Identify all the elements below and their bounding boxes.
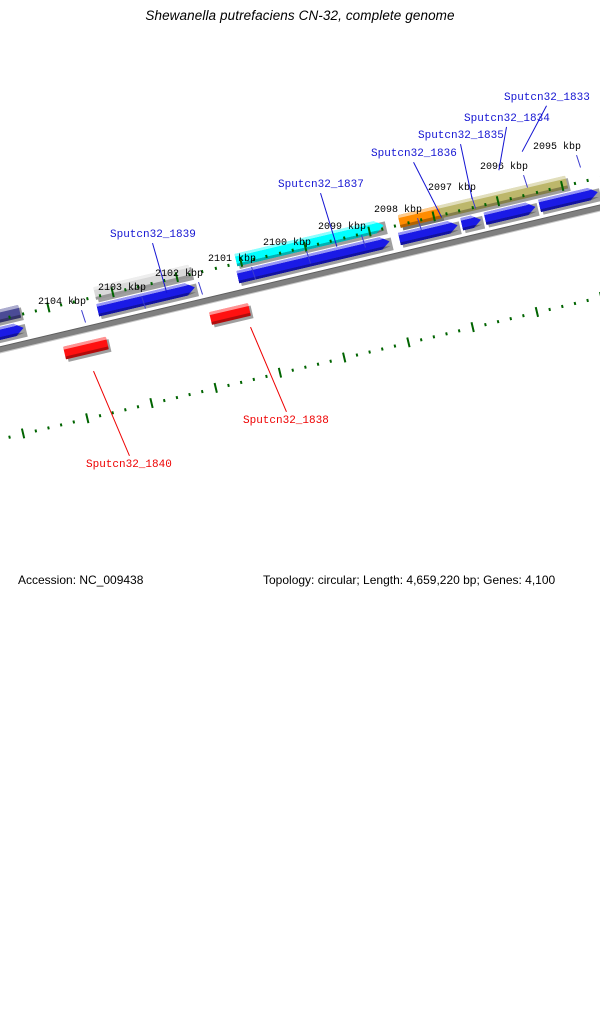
ruler-tick-minor (304, 366, 307, 369)
gene-label[interactable]: Sputcn32_1840 (86, 459, 172, 471)
gene-label[interactable]: Sputcn32_1834 (464, 113, 550, 125)
gene-label[interactable]: Sputcn32_1837 (278, 179, 364, 191)
gene-label[interactable]: Sputcn32_1836 (371, 148, 457, 160)
ruler-tick-major (560, 181, 564, 191)
ruler-tick-minor (201, 390, 204, 393)
ruler-position-label: 2096 kbp (480, 162, 528, 173)
gene-label[interactable]: Sputcn32_1835 (418, 130, 504, 142)
ruler-tick-minor (407, 221, 410, 224)
ruler-tick-minor (548, 188, 551, 191)
ruler-tick-minor (176, 396, 179, 399)
genome-map-viewer: Shewanella putrefaciens CN-32, complete … (0, 0, 600, 600)
ruler-tick-minor (330, 239, 333, 242)
ruler-tick-major (342, 353, 346, 363)
ruler-tick-minor (86, 297, 89, 300)
ruler-tick-minor (471, 206, 474, 209)
ruler-tick-minor (574, 182, 577, 185)
ruler-tick-minor (368, 350, 371, 353)
ruler-tick-major (406, 337, 410, 347)
ruler-tick-minor (420, 218, 423, 221)
ruler-tick-minor (60, 423, 63, 426)
ruler-tick-minor (510, 197, 513, 200)
ruler-tick-minor (355, 233, 358, 236)
ruler-tick-minor (278, 252, 281, 255)
ruler-tick-minor (9, 315, 12, 318)
ruler-tick-minor (150, 282, 153, 285)
ruler-tick-minor (73, 420, 76, 423)
ruler-tick-minor (484, 203, 487, 206)
ruler-tick-minor (458, 209, 461, 212)
ruler-tick-minor (445, 332, 448, 335)
ruler-tick-major (21, 428, 25, 438)
ruler-tick-minor (291, 249, 294, 252)
gene-label[interactable]: Sputcn32_1838 (243, 415, 329, 427)
ruler-tick-minor (99, 414, 102, 417)
accession-text: Accession: NC_009438 (18, 573, 143, 587)
ruler-tick-minor (458, 329, 461, 332)
ruler-tick-minor (497, 320, 500, 323)
ruler-tick-minor (266, 375, 269, 378)
ruler-tick-minor (510, 317, 513, 320)
ruler-tick-minor (548, 308, 551, 311)
ruler-tick-minor (522, 314, 525, 317)
ruler-tick-major (213, 383, 217, 393)
ruler-tick-minor (317, 362, 320, 365)
ruler-tick-major (432, 211, 436, 221)
ruler-tick-minor (433, 335, 436, 338)
ruler-tick-minor (587, 299, 590, 302)
ruler-tick-minor (381, 347, 384, 350)
ruler-tick-minor (240, 381, 243, 384)
ruler-tick-minor (163, 399, 166, 402)
ruler-tick-minor (227, 384, 230, 387)
ruler-tick-major (85, 413, 89, 423)
ruler-tick-minor (291, 369, 294, 372)
genome-stats-text: Topology: circular; Length: 4,659,220 bp… (263, 573, 555, 587)
ruler-tick-major (367, 226, 371, 236)
page-title: Shewanella putrefaciens CN-32, complete … (0, 8, 600, 23)
ruler-tick-minor (355, 353, 358, 356)
gene-label[interactable]: Sputcn32_1833 (504, 92, 590, 104)
ruler-tick-major (496, 196, 500, 206)
ruler-tick-minor (394, 344, 397, 347)
ruler-tick-minor (188, 393, 191, 396)
ruler-tick-minor (9, 435, 12, 438)
ruler-tick-minor (330, 359, 333, 362)
ruler-tick-minor (587, 179, 590, 182)
ruler-tick-minor (214, 267, 217, 270)
ruler-tick-minor (266, 255, 269, 258)
ruler-tick-major (534, 307, 538, 317)
ruler-tick-minor (124, 408, 127, 411)
ruler-position-label: 2103 kbp (98, 283, 146, 294)
ruler-tick-major (470, 322, 474, 332)
ruler-position-label: 2095 kbp (533, 142, 581, 153)
ruler-tick-minor (420, 338, 423, 341)
ruler-tick-minor (137, 405, 140, 408)
ruler-tick-minor (317, 242, 320, 245)
ruler-tick-minor (445, 212, 448, 215)
ruler-tick-minor (99, 294, 102, 297)
ruler-position-label: 2098 kbp (374, 205, 422, 216)
ruler-position-label: 2101 kbp (208, 254, 256, 265)
ruler-tick-major (149, 398, 153, 408)
ruler-tick-minor (47, 426, 50, 429)
ruler-tick-minor (381, 227, 384, 230)
ruler-tick-minor (253, 378, 256, 381)
ruler-label-leader (576, 155, 581, 168)
gene-label[interactable]: Sputcn32_1839 (110, 229, 196, 241)
ruler-position-label: 2100 kbp (263, 238, 311, 249)
ruler-tick-minor (343, 236, 346, 239)
ruler-position-label: 2104 kbp (38, 297, 86, 308)
ruler-tick-minor (394, 224, 397, 227)
ruler-tick-major (277, 368, 281, 378)
ruler-position-label: 2099 kbp (318, 222, 366, 233)
ruler-tick-minor (484, 323, 487, 326)
ruler-tick-minor (34, 309, 37, 312)
ruler-tick-minor (522, 194, 525, 197)
ruler-tick-minor (574, 302, 577, 305)
ruler-tick-minor (535, 191, 538, 194)
ruler-tick-minor (21, 312, 24, 315)
ruler-tick-minor (561, 305, 564, 308)
ruler-tick-minor (34, 429, 37, 432)
